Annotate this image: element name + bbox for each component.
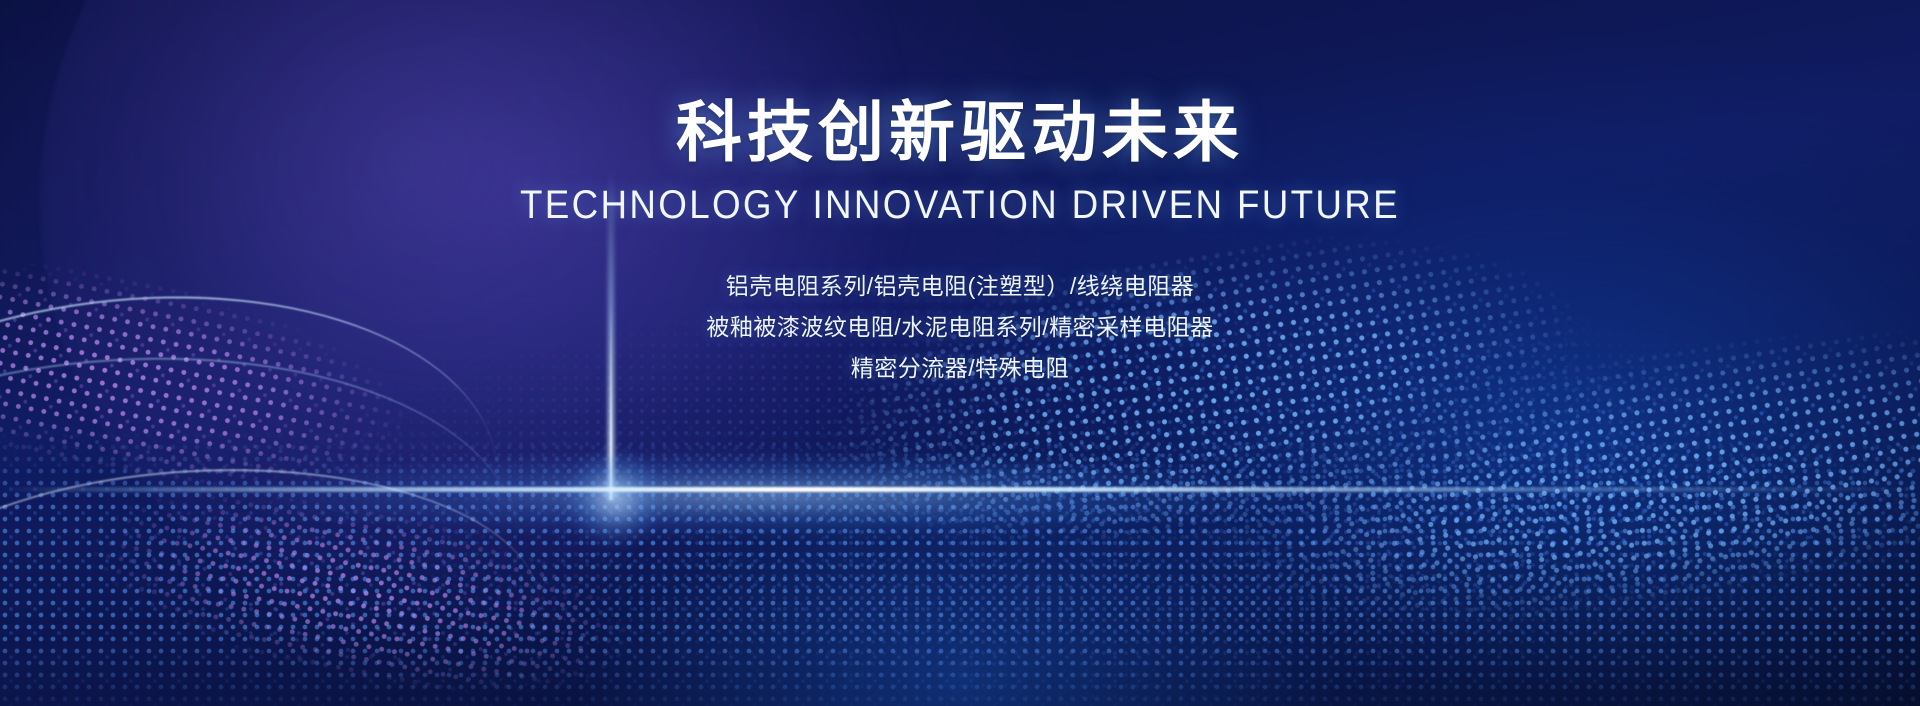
horizontal-beam-glow-decoration <box>0 430 1920 560</box>
product-line-2: 被釉被漆波纹电阻/水泥电阻系列/精密采样电阻器 <box>0 307 1920 348</box>
banner-title: 科技创新驱动未来 <box>0 96 1920 169</box>
light-burst-decoration <box>520 420 710 570</box>
product-line-3: 精密分流器/特殊电阻 <box>0 348 1920 389</box>
horizontal-light-beam-decoration <box>0 487 1920 492</box>
banner-product-list: 铝壳电阻系列/铝壳电阻(注塑型）/线绕电阻器 被釉被漆波纹电阻/水泥电阻系列/精… <box>0 266 1920 389</box>
product-line-1: 铝壳电阻系列/铝壳电阻(注塑型）/线绕电阻器 <box>0 266 1920 307</box>
hero-banner: 科技创新驱动未来 TECHNOLOGY INNOVATION DRIVEN FU… <box>0 0 1920 706</box>
banner-content: 科技创新驱动未来 TECHNOLOGY INNOVATION DRIVEN FU… <box>0 0 1920 389</box>
banner-subtitle: TECHNOLOGY INNOVATION DRIVEN FUTURE <box>77 183 1843 228</box>
